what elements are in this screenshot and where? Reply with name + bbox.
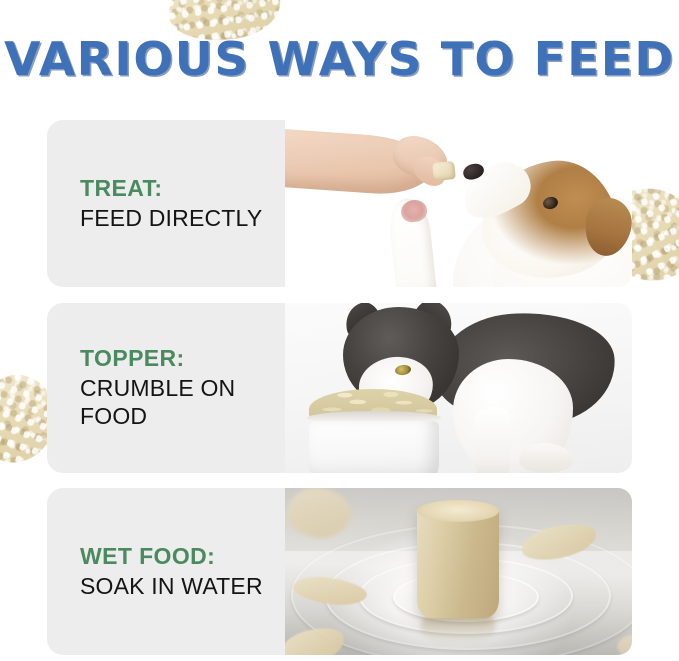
feeding-method-row-topper: TOPPER: CRUMBLE ON FOOD — [47, 303, 632, 473]
feeding-method-row-treat: TREAT: FEED DIRECTLY — [47, 120, 632, 287]
cat-leg-icon — [475, 407, 511, 473]
label-kicker-topper: TOPPER: — [80, 345, 285, 372]
food-bowl-icon — [309, 421, 439, 473]
label-body-treat: FEED DIRECTLY — [80, 205, 280, 233]
treat-piece-held-icon — [432, 161, 456, 181]
label-kicker-wet-food: WET FOOD: — [80, 543, 285, 570]
label-body-wet-food: SOAK IN WATER — [80, 573, 280, 601]
feeding-method-row-wet-food: WET FOOD: SOAK IN WATER — [47, 488, 632, 655]
photo-topper-cat — [285, 303, 632, 473]
freeze-dried-treat-cylinder-icon — [417, 506, 499, 618]
label-card-topper: TOPPER: CRUMBLE ON FOOD — [47, 303, 285, 473]
treat-crumb-background-icon — [285, 488, 353, 541]
label-body-topper: CRUMBLE ON FOOD — [80, 375, 280, 430]
cat-paw-icon — [519, 443, 573, 473]
freeze-dried-treat-cylinder-top-icon — [417, 500, 499, 522]
photo-wet-food-water — [285, 488, 632, 655]
label-card-wet-food: WET FOOD: SOAK IN WATER — [47, 488, 285, 655]
label-kicker-treat: TREAT: — [80, 175, 285, 202]
label-card-treat: TREAT: FEED DIRECTLY — [47, 120, 285, 287]
infographic-stage: VARIOUS WAYS TO FEED TREAT: FEED DIRECTL… — [0, 0, 679, 661]
page-title: VARIOUS WAYS TO FEED — [0, 32, 679, 86]
photo-treat-dog — [285, 120, 632, 287]
